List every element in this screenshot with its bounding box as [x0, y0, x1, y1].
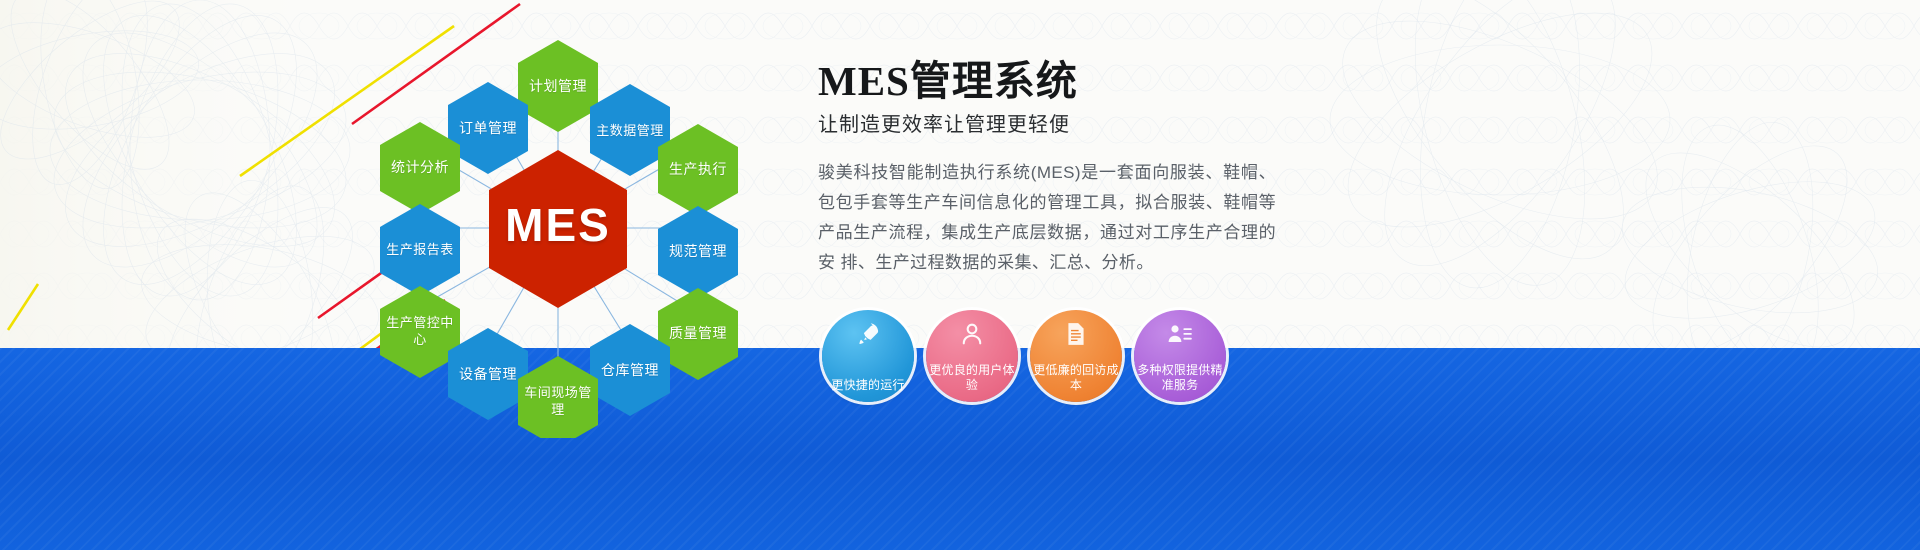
- banner-description: 骏美科技智能制造执行系统(MES)是一套面向服装、鞋帽、包包手套等生产车间信息化…: [818, 158, 1276, 278]
- banner-stage: .cn { stroke:#8bb7e0; stroke-width:1.1; …: [0, 0, 1920, 550]
- rocket-icon: [855, 321, 881, 347]
- badge-label: 更低廉的回访成本: [1033, 363, 1119, 393]
- page-subtitle: 让制造更效率让管理更轻便: [818, 110, 1288, 140]
- user-list-icon: [1167, 321, 1193, 347]
- badge-better-experience[interactable]: 更优良的用户体验: [926, 310, 1018, 402]
- badge-faster-operation[interactable]: 更快捷的运行: [822, 310, 914, 402]
- badge-label: 更快捷的运行: [825, 378, 911, 393]
- badge-label: 多种权限提供精准服务: [1137, 363, 1223, 393]
- mes-hexagon-diagram: .cn { stroke:#8bb7e0; stroke-width:1.1; …: [340, 18, 780, 438]
- badge-label: 更优良的用户体验: [929, 363, 1015, 393]
- user-icon: [959, 321, 985, 347]
- badge-permissions[interactable]: 多种权限提供精准服务: [1134, 310, 1226, 402]
- document-icon: [1063, 321, 1089, 347]
- banner-copy-block: MES管理系统 让制造更效率让管理更轻便 骏美科技智能制造执行系统(MES)是一…: [818, 56, 1288, 278]
- hex-workshop-site-management: [518, 356, 598, 438]
- page-title: MES管理系统: [818, 56, 1288, 106]
- badge-lower-cost[interactable]: 更低廉的回访成本: [1030, 310, 1122, 402]
- feature-badge-list: 更快捷的运行 更优良的用户体验 更低廉的回访成本 多: [822, 310, 1226, 402]
- mes-center-label: MES: [505, 198, 611, 252]
- hex-specification-management: [658, 206, 738, 298]
- hex-plan-management: [518, 40, 598, 132]
- hex-production-report: [380, 204, 460, 296]
